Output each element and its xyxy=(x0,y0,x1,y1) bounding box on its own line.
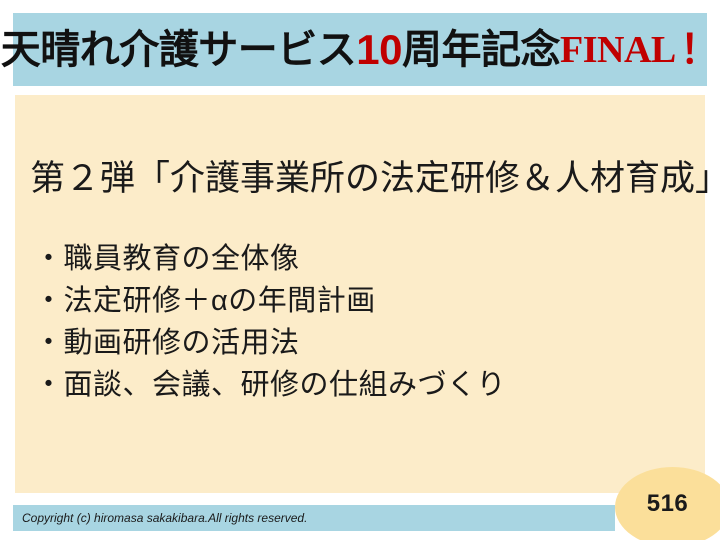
list-item-label: 動画研修の活用法 xyxy=(64,327,300,359)
page-number-label: 516 xyxy=(615,467,720,540)
title-segment-lead: 天晴れ介護サービス xyxy=(1,30,357,70)
title-segment-exclamation: ！ xyxy=(676,30,720,70)
bullet-marker: ・ xyxy=(34,243,64,275)
bullet-marker: ・ xyxy=(34,327,64,359)
list-item-label: 面談、会議、研修の仕組みづくり xyxy=(64,369,507,401)
title-segment-final: FINAL xyxy=(560,31,676,69)
slide-canvas: 天晴れ介護サービス10周年記念FINAL！ 第２弾「介護事業所の法定研修＆人材育… xyxy=(0,0,720,540)
title-segment-number: 10 xyxy=(356,29,402,71)
bullet-marker: ・ xyxy=(34,285,64,317)
list-item-label: 法定研修＋αの年間計画 xyxy=(64,285,376,317)
list-item: ・面談、会議、研修の仕組みづくり xyxy=(34,364,674,406)
list-item: ・動画研修の活用法 xyxy=(34,322,674,364)
list-item: ・職員教育の全体像 xyxy=(34,238,674,280)
title-segment-mid: 周年記念 xyxy=(402,30,560,70)
subtitle-heading: 第２弾「介護事業所の法定研修＆人材育成」 xyxy=(30,158,690,200)
page-title: 天晴れ介護サービス10周年記念FINAL！ xyxy=(13,13,707,86)
list-item: ・法定研修＋αの年間計画 xyxy=(34,280,674,322)
copyright-notice: Copyright (c) hiromasa sakakibara.All ri… xyxy=(22,509,307,527)
bullet-marker: ・ xyxy=(34,369,64,401)
topic-list: ・職員教育の全体像 ・法定研修＋αの年間計画 ・動画研修の活用法 ・面談、会議、… xyxy=(34,238,674,406)
list-item-label: 職員教育の全体像 xyxy=(64,243,300,275)
